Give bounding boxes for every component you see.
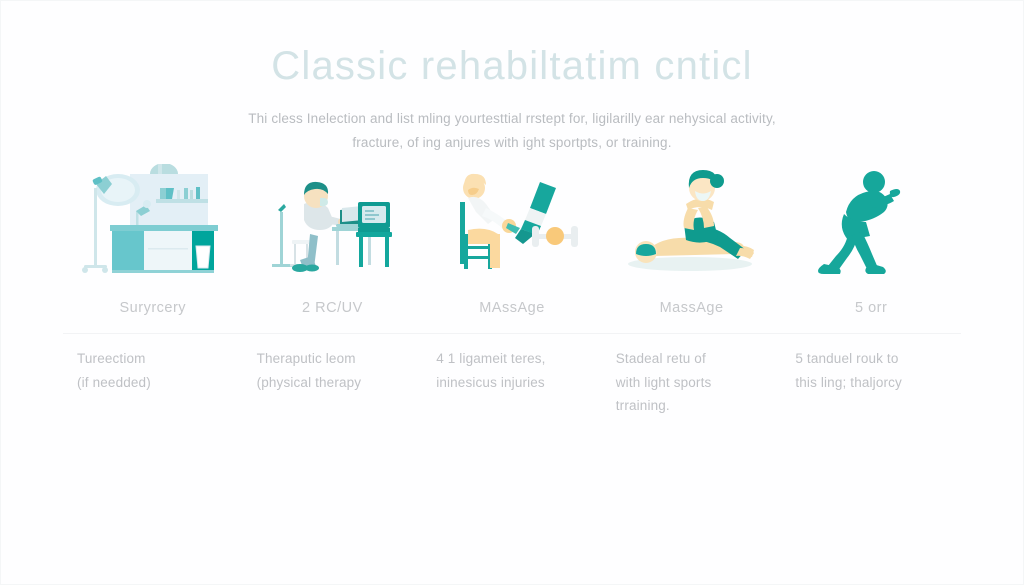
illustration-cell-5 — [781, 164, 961, 284]
step-column-1[interactable]: Suryrcery — [63, 164, 243, 332]
page-title: Classic rehabiltatim cnticl — [1, 41, 1023, 91]
illustration-cell-2 — [243, 164, 423, 284]
step-columns: Suryrcery — [63, 164, 961, 332]
step-column-4[interactable]: MassAge — [602, 164, 782, 332]
description-cell-5: 5 tanduel rouk to this ling; thaljorcy — [781, 347, 961, 418]
description-cell-3: 4 1 ligameit teres, ininesicus injuries — [422, 347, 602, 418]
subtitle-line-2: fracture, of ing anjures with ight sport… — [197, 131, 827, 155]
step-column-3[interactable]: MAssAge — [422, 164, 602, 332]
subtitle-line-1: Thi cless Inelection and list mling your… — [197, 107, 827, 131]
step-description-2: Theraputic leom (physical therapy — [257, 347, 409, 394]
page-subtitle: Thi cless Inelection and list mling your… — [197, 107, 827, 154]
step-descriptions: Tureectiom (if needded) Theraputic leom … — [63, 347, 961, 418]
step-column-5[interactable]: 5 orr — [781, 164, 961, 332]
step-label-4: MassAge — [660, 284, 724, 332]
illustration-cell-4 — [602, 164, 782, 284]
surgery-room-icon — [78, 164, 228, 282]
step-description-1: Tureectiom (if needded) — [77, 347, 229, 394]
description-cell-2: Theraputic leom (physical therapy — [243, 347, 423, 418]
step-column-2[interactable]: 2 RC/UV — [243, 164, 423, 332]
step-description-3: 4 1 ligameit teres, ininesicus injuries — [436, 347, 588, 394]
massage-therapy-icon — [622, 164, 762, 282]
step-label-5: 5 orr — [855, 284, 887, 332]
illustration-cell-1 — [63, 164, 243, 284]
standing-desk-rehab-icon — [268, 164, 396, 282]
description-cell-4: Stadeal retu of with light sports trrain… — [602, 347, 782, 418]
description-cell-1: Tureectiom (if needded) — [63, 347, 243, 418]
step-label-2: 2 RC/UV — [302, 284, 363, 332]
step-description-5: 5 tanduel rouk to this ling; thaljorcy — [795, 347, 947, 394]
header: Classic rehabiltatim cnticl Thi cless In… — [1, 1, 1023, 154]
section-divider — [63, 333, 961, 334]
seated-treatment-icon — [442, 164, 582, 282]
illustration-cell-3 — [422, 164, 602, 284]
walking-person-icon — [816, 164, 926, 282]
step-description-4: Stadeal retu of with light sports trrain… — [616, 347, 768, 418]
step-label-1: Suryrcery — [120, 284, 187, 332]
step-label-3: MAssAge — [479, 284, 545, 332]
infographic-poster: Classic rehabiltatim cnticl Thi cless In… — [0, 0, 1024, 585]
